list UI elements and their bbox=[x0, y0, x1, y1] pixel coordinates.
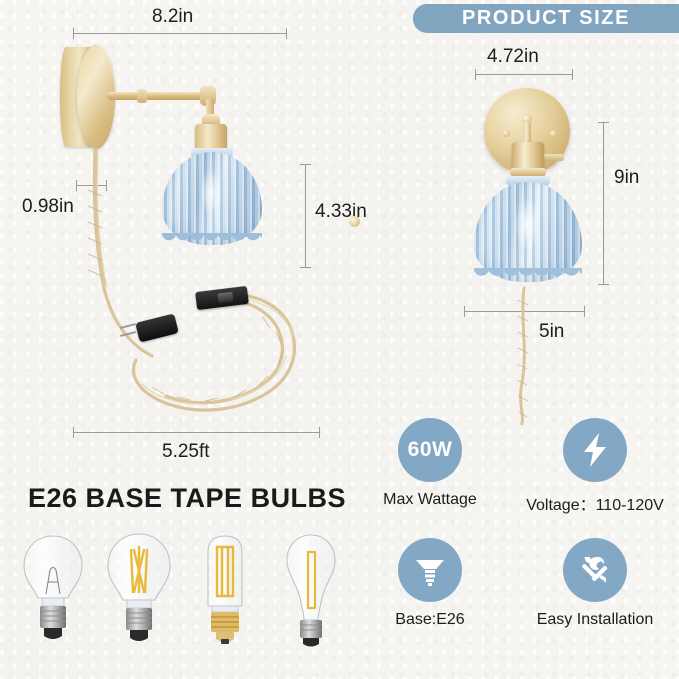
left-lamp-illustration bbox=[52, 42, 322, 292]
infographic-canvas: PRODUCT SIZE 8.2in 0.98in 4.33in 5.25ft bbox=[0, 0, 679, 679]
dimension-line-cord-length bbox=[73, 432, 320, 433]
bulb-incandescent-a19 bbox=[14, 530, 92, 650]
wall-plate-screw-left bbox=[503, 130, 510, 137]
switch-rocker bbox=[217, 292, 233, 304]
socket-ring bbox=[510, 168, 546, 176]
dimension-line-width-left bbox=[73, 33, 287, 34]
lamp-base-icon bbox=[398, 538, 462, 602]
product-size-banner: PRODUCT SIZE bbox=[413, 4, 679, 33]
feature-max-wattage: 60W Max Wattage bbox=[355, 418, 505, 509]
dimension-label-cord-length: 5.25ft bbox=[162, 441, 210, 463]
dimension-label-backplate-diameter: 4.72in bbox=[487, 46, 539, 68]
tools-icon bbox=[563, 538, 627, 602]
power-plug bbox=[135, 313, 179, 342]
feature-label-base: Base:E26 bbox=[355, 611, 505, 629]
socket-side-arm bbox=[542, 154, 564, 161]
wattage-value: 60W bbox=[408, 438, 453, 462]
bulbs-section-title: E26 BASE TAPE BULBS bbox=[28, 483, 346, 514]
lamp-arm bbox=[107, 92, 212, 100]
shade-scalloped-edge bbox=[162, 233, 262, 249]
dimension-label-width-left: 8.2in bbox=[152, 6, 193, 28]
dimension-line-backplate-diameter bbox=[475, 74, 573, 75]
feature-label-voltage: Voltage：110-120V bbox=[520, 491, 670, 515]
feature-base: Base:E26 bbox=[355, 538, 505, 629]
wall-plate-screw-right bbox=[550, 130, 557, 137]
socket-stem bbox=[523, 122, 531, 144]
bulb-led-filament-a19 bbox=[100, 530, 178, 650]
right-lamp-illustration bbox=[462, 88, 592, 303]
plug-prong-2 bbox=[120, 331, 136, 337]
feature-voltage: Voltage：110-120V bbox=[520, 418, 670, 515]
product-size-banner-label: PRODUCT SIZE bbox=[462, 7, 630, 30]
shade-highlight bbox=[200, 168, 222, 218]
dimension-label-total-height: 9in bbox=[614, 167, 639, 189]
lightning-bolt-icon bbox=[563, 418, 627, 482]
dimension-label-shade-diameter: 5in bbox=[539, 321, 564, 343]
shade-highlight-right bbox=[514, 196, 540, 252]
shade-scalloped-edge-right bbox=[474, 268, 582, 285]
bulb-row bbox=[14, 530, 354, 650]
plug-prong-1 bbox=[120, 323, 136, 329]
bulb-edison-st64 bbox=[272, 530, 350, 650]
bulb-tubular-t-filament bbox=[186, 530, 264, 650]
dimension-line-shade-diameter bbox=[464, 311, 585, 312]
feature-easy-installation: Easy Installation bbox=[520, 538, 670, 629]
lamp-arm-joint bbox=[137, 89, 147, 103]
socket-knob bbox=[349, 216, 360, 227]
dimension-line-total-height bbox=[603, 122, 604, 285]
feature-label-max-wattage: Max Wattage bbox=[355, 491, 505, 509]
wattage-text-icon: 60W bbox=[398, 418, 462, 482]
feature-label-easy-installation: Easy Installation bbox=[520, 611, 670, 629]
